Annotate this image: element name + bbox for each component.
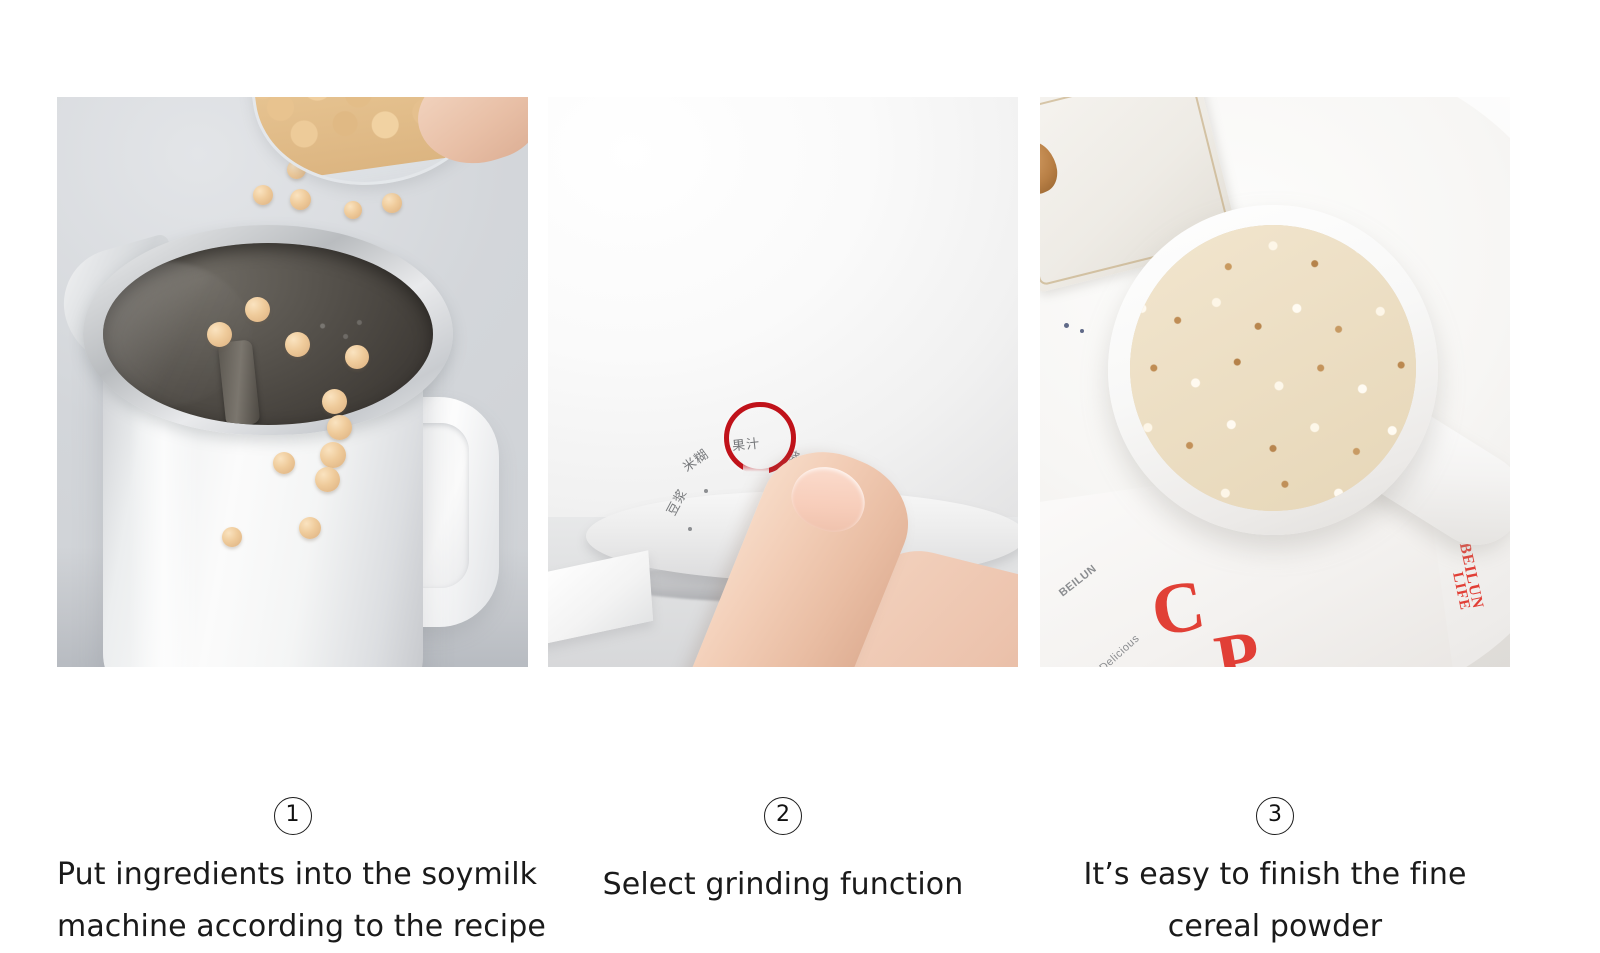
fingernail xyxy=(783,456,875,541)
step-3-caption-block: 3 It’s easy to finish the fine cereal po… xyxy=(1040,764,1510,953)
step-2-caption: Select grinding function xyxy=(548,859,1018,911)
steps-row: 1 Put ingredients into the soymilk machi… xyxy=(0,0,1600,938)
soybean xyxy=(320,442,346,468)
step-3-caption: It’s easy to finish the fine cereal powd… xyxy=(1040,849,1510,953)
machine-inner-pot xyxy=(103,243,433,425)
soybean xyxy=(315,467,340,492)
falling-soybean xyxy=(253,185,273,205)
plate-speck xyxy=(1080,329,1084,333)
falling-soybean xyxy=(382,193,402,213)
water-level-marks xyxy=(295,298,387,368)
soybean xyxy=(322,389,347,414)
step-1-photo xyxy=(57,97,528,667)
dial-indicator-dot xyxy=(688,527,692,531)
caption-line: It’s easy to finish the fine xyxy=(1040,849,1510,901)
step-2-caption-block: 2 Select grinding function xyxy=(548,764,1018,911)
cereal-bowl xyxy=(1108,205,1438,535)
cereal-powder xyxy=(1130,225,1416,511)
soybean xyxy=(207,322,232,347)
soybean xyxy=(327,415,352,440)
step-panel-3: C P BEILUN No.7 Delicious BEILUN LIFE 3 … xyxy=(1040,97,1510,667)
grinding-blade xyxy=(217,340,260,425)
caption-line: Put ingredients into the soymilk xyxy=(57,849,528,901)
soybean xyxy=(222,527,242,547)
step-1-caption-block: 1 Put ingredients into the soymilk machi… xyxy=(57,764,528,953)
caption-line: Select grinding function xyxy=(548,859,1018,911)
falling-soybean xyxy=(344,201,362,219)
dial-indicator-dot xyxy=(704,489,708,493)
step-panel-1: 1 Put ingredients into the soymilk machi… xyxy=(57,97,528,667)
dial-ring-gap xyxy=(743,462,769,476)
step-panel-2: 豆浆 米糊 果汁 烧水 清洗 2 Select grinding functio… xyxy=(548,97,1018,667)
soybean xyxy=(285,332,310,357)
soybean xyxy=(273,452,295,474)
soybean xyxy=(299,517,321,539)
soybean xyxy=(345,345,369,369)
step-3-photo: C P BEILUN No.7 Delicious BEILUN LIFE xyxy=(1040,97,1510,667)
falling-soybean xyxy=(290,189,311,210)
step-number-badge: 2 xyxy=(764,797,802,835)
soybean xyxy=(245,297,270,322)
caption-line: machine according to the recipe xyxy=(57,901,528,953)
step-1-caption: Put ingredients into the soymilk machine… xyxy=(57,849,528,953)
step-number-badge: 3 xyxy=(1256,797,1294,835)
bowl-interior xyxy=(1130,225,1416,511)
caption-line: cereal powder xyxy=(1040,901,1510,953)
plate-speck xyxy=(1064,323,1069,328)
walnut xyxy=(1040,134,1065,200)
step-number-badge: 1 xyxy=(274,797,312,835)
step-2-photo: 豆浆 米糊 果汁 烧水 清洗 xyxy=(548,97,1018,667)
